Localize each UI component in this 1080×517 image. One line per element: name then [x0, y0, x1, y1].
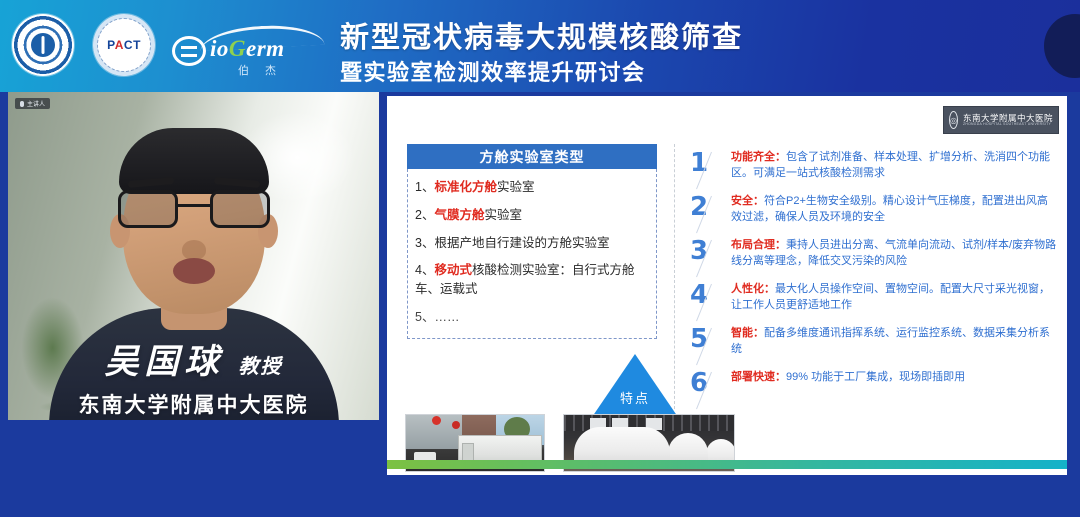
- feature-text: 人性化：最大化人员操作空间、置物空间。配置大尺寸采光视窗，让工作人员更舒适地工作: [731, 282, 1057, 322]
- list-item: 1、标准化方舱实验室: [415, 178, 649, 197]
- feature-text: 安全：符合P2+生物安全级别。精心设计气压梯度，配置进出风高效过滤，确保人员及环…: [731, 194, 1057, 234]
- presenter-nameplate: 吴国球 教授 东南大学附属中大医院: [8, 330, 379, 422]
- lab-types-list: 1、标准化方舱实验室 2、气膜方舱实验室 3、根据产地自行建设的方舱实验室 4、…: [407, 169, 657, 339]
- event-title-sub: 暨实验室检测效率提升研讨会: [340, 55, 646, 87]
- feature-text: 部署快速：99% 功能于工厂集成，现场即插即用: [731, 370, 965, 410]
- pact-seal-icon: PACT: [93, 14, 155, 76]
- hospital-logo-badge: ◎ 东南大学附属中大医院 ZHONGDA HOSPITAL SOUTHEAST …: [943, 106, 1059, 134]
- feature-text: 智能：配备多维度通讯指挥系统、运行监控系统、数据采集分析系统: [731, 326, 1057, 366]
- biogerm-wordmark: ioGerm: [210, 36, 285, 62]
- list-item: 1 功能齐全：包含了试剂准备、样本处理、扩增分析、洗消四个功能区。可满足一站式核…: [687, 150, 1057, 190]
- list-item: 4、移动式核酸检测实验室：自行式方舱车、运载式: [415, 261, 649, 299]
- hospital-seal-icon: ◎: [949, 111, 958, 129]
- features-list: 1 功能齐全：包含了试剂准备、样本处理、扩增分析、洗消四个功能区。可满足一站式核…: [687, 142, 1057, 410]
- presenter-honorific: 教授: [239, 350, 283, 379]
- list-item: 3、根据产地自行建设的方舱实验室: [415, 234, 649, 253]
- slide-title: 方舱实验室类型及特点: [387, 112, 581, 137]
- video-participant-name: 主讲人: [27, 99, 45, 108]
- presenter-name: 吴国球: [105, 334, 225, 383]
- pact-seal-text: PACT: [107, 38, 141, 52]
- event-title-main: 新型冠状病毒大规模核酸筛查: [340, 14, 743, 56]
- list-item: 5 智能：配备多维度通讯指挥系统、运行监控系统、数据采集分析系统: [687, 326, 1057, 366]
- list-item: 3 布局合理：秉持人员进出分离、气流单向流动、试剂/样本/废弃物路线分离等理念，…: [687, 238, 1057, 278]
- microphone-icon: [20, 101, 24, 107]
- slide-title-bar: 方舱实验室类型及特点: [387, 110, 1019, 138]
- list-item: 4 人性化：最大化人员操作空间、置物空间。配置大尺寸采光视窗，让工作人员更舒适地…: [687, 282, 1057, 322]
- feature-triangle-label: 特点: [590, 388, 680, 407]
- list-item: 5、……: [415, 308, 649, 327]
- lab-types-card: 方舱实验室类型 1、标准化方舱实验室 2、气膜方舱实验室 3、根据产地自行建设的…: [407, 144, 657, 339]
- biogerm-mark-icon: [172, 36, 206, 66]
- video-participant-badge: 主讲人: [15, 98, 50, 109]
- lab-types-header: 方舱实验室类型: [407, 144, 657, 169]
- event-header-banner: PACT ioGerm 伯杰 新型冠状病毒大规模核酸筛查 暨实验室检测效率提升研…: [0, 0, 1080, 92]
- organizer-seal-icon: [12, 14, 74, 76]
- feature-text: 布局合理：秉持人员进出分离、气流单向流动、试剂/样本/废弃物路线分离等理念，降低…: [731, 238, 1057, 278]
- biogerm-chinese-name: 伯杰: [238, 62, 292, 78]
- list-item: 2 安全：符合P2+生物安全级别。精心设计气压梯度，配置进出风高效过滤，确保人员…: [687, 194, 1057, 234]
- list-item: 6 部署快速：99% 功能于工厂集成，现场即插即用: [687, 370, 1057, 410]
- hospital-name-en: ZHONGDA HOSPITAL SOUTHEAST UNIVERSITY: [963, 123, 1051, 127]
- biogerm-logo: ioGerm 伯杰: [172, 28, 324, 78]
- eyeglasses-icon: [116, 190, 272, 230]
- feature-triangle-shape: [590, 354, 680, 420]
- list-item: 2、气膜方舱实验室: [415, 206, 649, 225]
- feature-text: 功能齐全：包含了试剂准备、样本处理、扩增分析、洗消四个功能区。可满足一站式核酸检…: [731, 150, 1057, 190]
- slide-canvas: 方舱实验室类型及特点 ◎ 东南大学附属中大医院 ZHONGDA HOSPITAL…: [387, 96, 1067, 475]
- presenter-organization: 东南大学附属中大医院: [79, 389, 309, 419]
- webinar-screen: PACT ioGerm 伯杰 新型冠状病毒大规模核酸筛查 暨实验室检测效率提升研…: [0, 0, 1080, 517]
- slide-bottom-accent-bar: [387, 460, 1067, 469]
- shared-slide-frame[interactable]: 方舱实验室类型及特点 ◎ 东南大学附属中大医院 ZHONGDA HOSPITAL…: [383, 92, 1071, 479]
